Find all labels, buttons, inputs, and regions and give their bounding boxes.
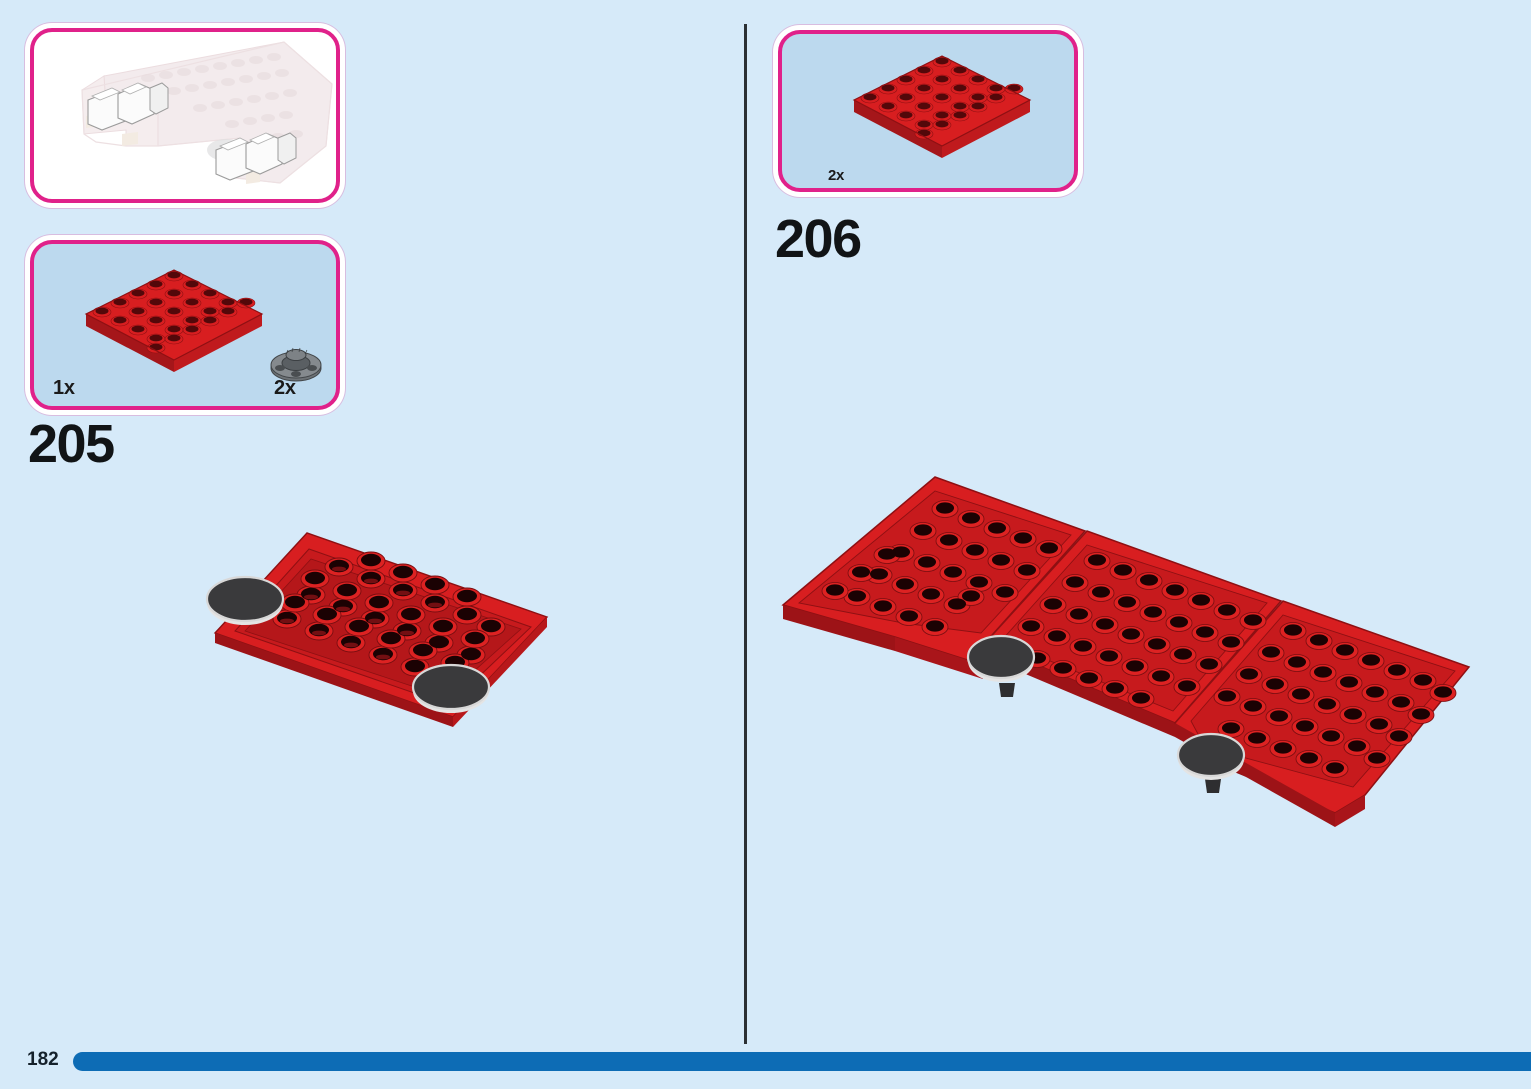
- progress-bar: [73, 1052, 1531, 1071]
- part-red-plate-art-206: [814, 42, 1034, 162]
- parts-callout-206: 2x: [778, 30, 1078, 192]
- step-number-205: 205: [28, 413, 114, 475]
- turntable-disc-right-206: [1178, 734, 1244, 793]
- part-quantity-plate-206: 2x: [828, 167, 844, 184]
- turntable-disc-left-205: [207, 577, 283, 625]
- part-red-plate-art-205: [46, 256, 266, 376]
- part-quantity-plate-205: 1x: [53, 377, 75, 400]
- column-divider: [744, 24, 747, 1044]
- page-footer: 182: [0, 1029, 1531, 1089]
- progress-bar-fill: [73, 1052, 1531, 1071]
- page-number: 182: [27, 1049, 59, 1071]
- parts-callout-205: 1x 2x: [30, 240, 340, 410]
- assembly-art-205: [195, 505, 565, 730]
- assembly-art-206: [775, 465, 1475, 840]
- step-number-206: 206: [775, 208, 861, 270]
- instruction-page: 1x 2x 205: [0, 0, 1531, 1089]
- turntable-disc-right-205: [413, 665, 489, 713]
- part-quantity-turntable-205: 2x: [274, 377, 296, 400]
- hint-callout-205: [30, 28, 340, 203]
- hint-assembly-art: [40, 38, 336, 198]
- turntable-disc-left-206: [968, 636, 1034, 697]
